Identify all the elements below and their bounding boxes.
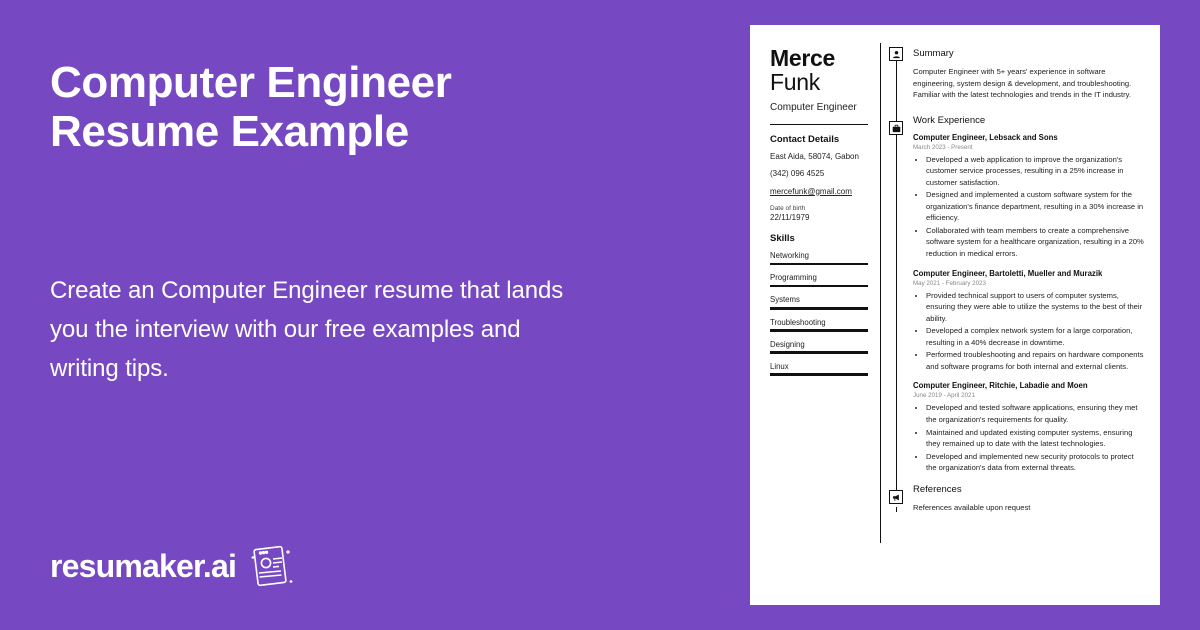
skill-item: Programming bbox=[770, 273, 868, 287]
candidate-first-name: Merce bbox=[770, 47, 868, 70]
job-bullets: Provided technical support to users of c… bbox=[913, 290, 1144, 373]
megaphone-icon bbox=[889, 490, 903, 504]
page-title: Computer Engineer Resume Example bbox=[50, 58, 650, 157]
job-title: Computer Engineer, Bartoletti, Mueller a… bbox=[913, 269, 1144, 279]
logo-wordmark: resumaker.ai bbox=[50, 548, 236, 585]
contact-address: East Aida, 58074, Gabon bbox=[770, 152, 868, 162]
job-bullets: Developed and tested software applicatio… bbox=[913, 402, 1144, 473]
rail-line bbox=[896, 135, 897, 490]
resume-preview-card[interactable]: Merce Funk Computer Engineer Contact Det… bbox=[750, 25, 1160, 605]
job-bullet: Performed troubleshooting and repairs on… bbox=[926, 349, 1144, 372]
person-icon bbox=[889, 47, 903, 61]
job-entry: Computer Engineer, Bartoletti, Mueller a… bbox=[913, 269, 1144, 373]
skills-heading: Skills bbox=[770, 233, 868, 244]
work-experience-heading: Work Experience bbox=[913, 114, 1144, 128]
promo-panel: Computer Engineer Resume Example Create … bbox=[50, 0, 670, 630]
job-title: Computer Engineer, Ritchie, Labadie and … bbox=[913, 381, 1144, 391]
skill-item: Networking bbox=[770, 251, 868, 265]
rail-line-end bbox=[896, 507, 897, 512]
promo-banner: Computer Engineer Resume Example Create … bbox=[0, 0, 1200, 630]
dob-value: 22/11/1979 bbox=[770, 213, 868, 224]
divider bbox=[770, 124, 868, 125]
skill-item: Troubleshooting bbox=[770, 318, 868, 332]
page-title-line-2: Resume Example bbox=[50, 107, 650, 156]
summary-text: Computer Engineer with 5+ years' experie… bbox=[913, 66, 1144, 101]
skill-bar bbox=[770, 373, 868, 376]
briefcase-icon bbox=[889, 121, 903, 135]
skill-item: Designing bbox=[770, 340, 868, 354]
skills-list: Networking Programming Systems Troublesh… bbox=[770, 251, 868, 376]
job-bullet: Collaborated with team members to create… bbox=[926, 225, 1144, 260]
skill-label: Designing bbox=[770, 340, 868, 349]
job-dates: May 2021 - February 2023 bbox=[913, 280, 1144, 287]
job-entry: Computer Engineer, Ritchie, Labadie and … bbox=[913, 381, 1144, 473]
resumaker-logo[interactable]: resumaker.ai bbox=[50, 540, 296, 592]
dob-label: Date of birth bbox=[770, 205, 868, 213]
resume-right-column: Summary Computer Engineer with 5+ years'… bbox=[881, 25, 1160, 605]
skill-bar bbox=[770, 351, 868, 354]
job-bullet: Developed and tested software applicatio… bbox=[926, 402, 1144, 425]
section-work-experience: Work Experience Computer Engineer, Lebsa… bbox=[913, 114, 1144, 474]
skill-label: Systems bbox=[770, 295, 868, 304]
skill-item: Systems bbox=[770, 295, 868, 309]
job-bullet: Developed and implemented new security p… bbox=[926, 451, 1144, 474]
job-bullet: Designed and implemented a custom softwa… bbox=[926, 189, 1144, 224]
contact-email[interactable]: mercefunk@gmail.com bbox=[770, 187, 868, 197]
resume-document-icon bbox=[244, 540, 296, 592]
skill-bar bbox=[770, 329, 868, 332]
job-entry: Computer Engineer, Lebsack and Sons Marc… bbox=[913, 133, 1144, 260]
job-bullet: Provided technical support to users of c… bbox=[926, 290, 1144, 325]
skill-label: Linux bbox=[770, 362, 868, 371]
section-summary: Summary Computer Engineer with 5+ years'… bbox=[913, 47, 1144, 101]
job-bullets: Developed a web application to improve t… bbox=[913, 154, 1144, 260]
references-text: References available upon request bbox=[913, 502, 1144, 513]
candidate-job-title: Computer Engineer bbox=[770, 102, 868, 113]
skill-item: Linux bbox=[770, 362, 868, 376]
skill-bar bbox=[770, 263, 868, 266]
rail-line bbox=[896, 61, 897, 121]
contact-phone: (342) 096 4525 bbox=[770, 169, 868, 179]
section-references: References References available upon req… bbox=[913, 483, 1144, 513]
resume-sections: Summary Computer Engineer with 5+ years'… bbox=[909, 47, 1144, 605]
job-bullet: Developed a complex network system for a… bbox=[926, 325, 1144, 348]
job-dates: March 2023 - Present bbox=[913, 144, 1144, 151]
skill-label: Programming bbox=[770, 273, 868, 282]
page-title-line-1: Computer Engineer bbox=[50, 58, 650, 107]
references-heading: References bbox=[913, 483, 1144, 497]
resume-left-column: Merce Funk Computer Engineer Contact Det… bbox=[750, 25, 880, 605]
job-dates: June 2019 - April 2021 bbox=[913, 392, 1144, 399]
job-title: Computer Engineer, Lebsack and Sons bbox=[913, 133, 1144, 143]
candidate-last-name: Funk bbox=[770, 70, 868, 95]
section-timeline-rail bbox=[881, 47, 909, 605]
job-bullet: Developed a web application to improve t… bbox=[926, 154, 1144, 189]
summary-heading: Summary bbox=[913, 47, 1144, 61]
skill-label: Troubleshooting bbox=[770, 318, 868, 327]
skill-label: Networking bbox=[770, 251, 868, 260]
page-subtitle: Create an Computer Engineer resume that … bbox=[50, 272, 570, 389]
contact-details-heading: Contact Details bbox=[770, 134, 868, 145]
skill-bar bbox=[770, 307, 868, 310]
job-bullet: Maintained and updated existing computer… bbox=[926, 427, 1144, 450]
skill-bar bbox=[770, 285, 868, 288]
